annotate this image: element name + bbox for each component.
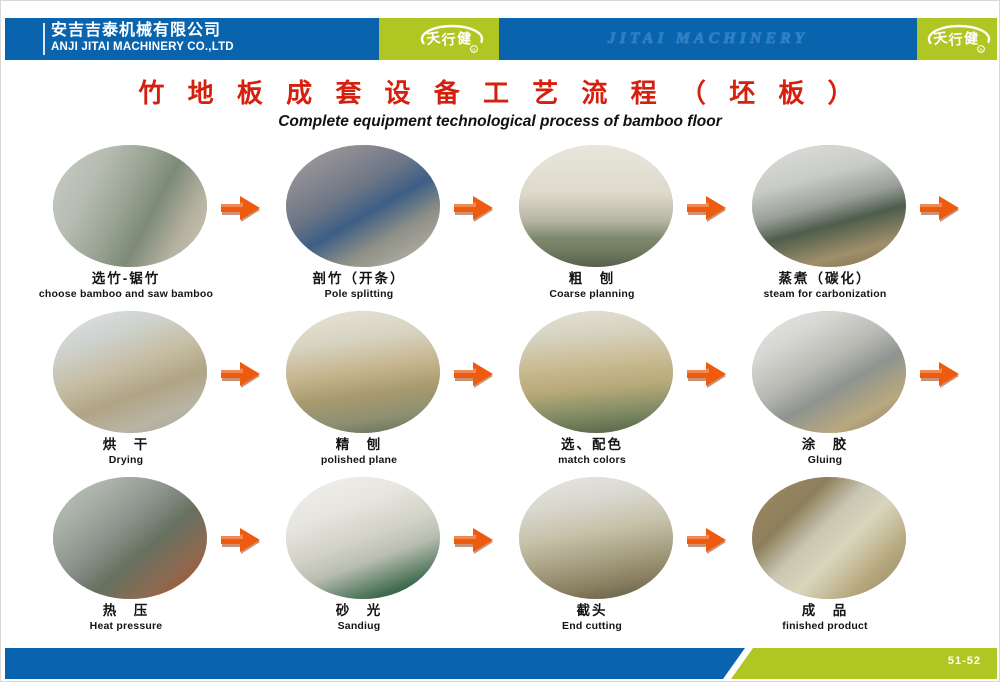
process-step-photo-frame [752,145,906,267]
header-wordmark: JITAI MACHINERY [499,18,917,60]
process-step-photo-frame [519,311,673,433]
process-step-caption: 粗 刨Coarse planning [467,270,717,301]
svg-text:健: 健 [964,30,979,47]
svg-text:行: 行 [947,31,963,49]
process-step-label-cn: 选竹-锯竹 [1,270,251,287]
page-number: 51-52 [948,655,981,667]
process-step: 截头End cutting [467,475,717,640]
process-step: 涂 胶Gluing [700,309,950,474]
process-step-label-cn: 剖竹（开条） [234,270,484,287]
process-step: 剖竹（开条）Pole splitting [234,143,484,308]
process-step-label-cn: 选、配色 [467,436,717,453]
page-title-cn: 竹 地 板 成 套 设 备 工 艺 流 程 （ 坯 板 ） [1,77,999,109]
process-step-photo-frame [286,145,440,267]
process-step-label-cn: 热 压 [1,602,251,619]
flow-arrow-icon [918,193,962,223]
process-step-caption: 热 压Heat pressure [1,602,251,633]
process-step-caption: 精 刨polished plane [234,436,484,467]
process-step: 成 品finished product [700,475,950,640]
process-step-label-en: Coarse planning [467,287,717,301]
process-step-photo-frame [752,477,906,599]
process-step-photo-frame [53,311,207,433]
svg-text:天: 天 [425,30,442,48]
process-step-caption: 成 品finished product [700,602,950,633]
pole-splitting-machine-photo [286,145,440,267]
finished-bamboo-panels-photo [752,477,906,599]
process-step-label-en: Pole splitting [234,287,484,301]
process-step-label-en: Gluing [700,453,950,467]
company-name-en: ANJI JITAI MACHINERY CO.,LTD [51,40,234,54]
flow-arrow-icon [918,359,962,389]
process-step-label-cn: 成 品 [700,602,950,619]
hot-press-machine-photo [53,477,207,599]
svg-text:行: 行 [440,31,456,49]
process-step-label-cn: 粗 刨 [467,270,717,287]
process-step: 粗 刨Coarse planning [467,143,717,308]
jitai-logo-icon: 天 行 健 R [419,22,485,56]
process-step: 精 刨polished plane [234,309,484,474]
process-step-caption: 烘 干Drying [1,436,251,467]
process-step-label-en: Sandiug [234,619,484,633]
process-step-label-en: choose bamboo and saw bamboo [1,287,251,301]
process-step-label-en: polished plane [234,453,484,467]
polished-plane-workshop-photo [286,311,440,433]
process-step-photo-frame [286,477,440,599]
process-step: 热 压Heat pressure [1,475,251,640]
footer-blue-band [5,648,745,679]
process-step-photo-frame [286,311,440,433]
process-step-label-en: steam for carbonization [700,287,950,301]
process-step-label-cn: 砂 光 [234,602,484,619]
process-row-3: 热 压Heat pressure砂 光Sandiug截头End cutting成… [1,475,1000,640]
coarse-planing-line-photo [519,145,673,267]
header-accent-rule [43,23,45,55]
page-header: 安吉吉泰机械有限公司 ANJI JITAI MACHINERY CO.,LTD … [5,18,997,60]
page-footer: 51-52 [5,648,997,679]
process-step-caption: 蒸煮（碳化）steam for carbonization [700,270,950,301]
process-step-label-cn: 烘 干 [1,436,251,453]
process-step-label-en: End cutting [467,619,717,633]
process-step-photo-frame [53,477,207,599]
process-step: 选、配色match colors [467,309,717,474]
svg-text:健: 健 [457,30,472,47]
process-step-photo-frame [53,145,207,267]
page-title-en: Complete equipment technological process… [1,112,999,132]
process-step: 选竹-锯竹choose bamboo and saw bamboo [1,143,251,308]
drying-racks-photo [53,311,207,433]
process-step-label-cn: 蒸煮（碳化） [700,270,950,287]
process-step-caption: 剖竹（开条）Pole splitting [234,270,484,301]
process-step-label-cn: 精 刨 [234,436,484,453]
process-step-caption: 涂 胶Gluing [700,436,950,467]
process-step-photo-frame [519,145,673,267]
process-step-label-en: Drying [1,453,251,467]
process-step-label-cn: 涂 胶 [700,436,950,453]
process-step-label-en: Heat pressure [1,619,251,633]
brochure-page: 安吉吉泰机械有限公司 ANJI JITAI MACHINERY CO.,LTD … [0,0,1000,682]
process-step-caption: 选、配色match colors [467,436,717,467]
steam-carbonization-photo [752,145,906,267]
footer-green-band: 51-52 [731,648,997,679]
process-row-1: 选竹-锯竹choose bamboo and saw bamboo剖竹（开条）P… [1,143,1000,308]
process-step-caption: 选竹-锯竹choose bamboo and saw bamboo [1,270,251,301]
process-step: 砂 光Sandiug [234,475,484,640]
gluing-station-photo [752,311,906,433]
process-step-label-en: finished product [700,619,950,633]
company-name-cn: 安吉吉泰机械有限公司 [51,21,221,40]
process-step-caption: 截头End cutting [467,602,717,633]
process-step-photo-frame [752,311,906,433]
process-step: 蒸煮（碳化）steam for carbonization [700,143,950,308]
jitai-logo-icon-right: 天 行 健 R [926,22,992,56]
color-matching-workshop-photo [519,311,673,433]
sanding-machine-photo [286,477,440,599]
process-step-caption: 砂 光Sandiug [234,602,484,633]
process-step-label-en: match colors [467,453,717,467]
bamboo-poles-sawing-photo [53,145,207,267]
process-step: 烘 干Drying [1,309,251,474]
svg-text:天: 天 [932,30,949,48]
process-step-photo-frame [519,477,673,599]
process-row-2: 烘 干Drying精 刨polished plane选、配色match colo… [1,309,1000,474]
end-cutting-workshop-photo [519,477,673,599]
process-step-label-cn: 截头 [467,602,717,619]
